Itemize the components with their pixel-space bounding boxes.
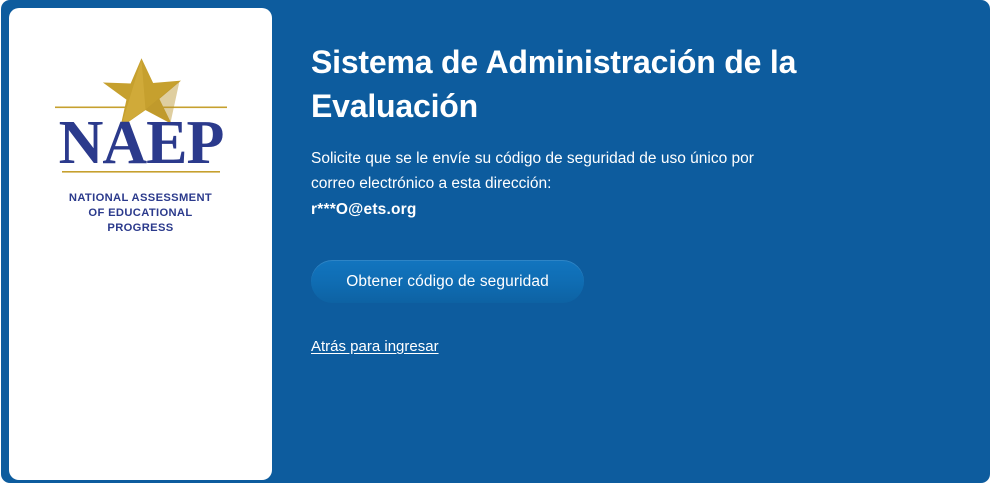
back-to-login-link[interactable]: Atrás para ingresar bbox=[311, 338, 439, 355]
logo-card: NAEP NATIONAL ASSESSMENT OF EDUCATIONAL … bbox=[9, 8, 272, 480]
naep-logo-mark: NAEP bbox=[53, 56, 229, 182]
naep-wordmark-text: NAEP bbox=[58, 109, 223, 177]
naep-tagline-line-2: OF EDUCATIONAL bbox=[69, 206, 212, 221]
naep-star-and-wordmark-icon: NAEP bbox=[53, 56, 229, 182]
page-title: Sistema de Administración de la Evaluaci… bbox=[311, 40, 851, 128]
instructions-text: Solicite que se le envíe su código de se… bbox=[311, 146, 761, 196]
naep-tagline-line-3: PROGRESS bbox=[69, 221, 212, 236]
content-area: Sistema de Administración de la Evaluaci… bbox=[311, 0, 931, 483]
naep-tagline: NATIONAL ASSESSMENT OF EDUCATIONAL PROGR… bbox=[69, 191, 212, 236]
naep-tagline-line-1: NATIONAL ASSESSMENT bbox=[69, 191, 212, 206]
masked-email-value: r***O@ets.org bbox=[311, 201, 417, 219]
blue-panel: NAEP NATIONAL ASSESSMENT OF EDUCATIONAL … bbox=[1, 0, 990, 483]
get-security-code-button[interactable]: Obtener código de seguridad bbox=[311, 260, 584, 303]
login-page: NAEP NATIONAL ASSESSMENT OF EDUCATIONAL … bbox=[0, 0, 992, 489]
naep-logo: NAEP NATIONAL ASSESSMENT OF EDUCATIONAL … bbox=[9, 56, 272, 236]
